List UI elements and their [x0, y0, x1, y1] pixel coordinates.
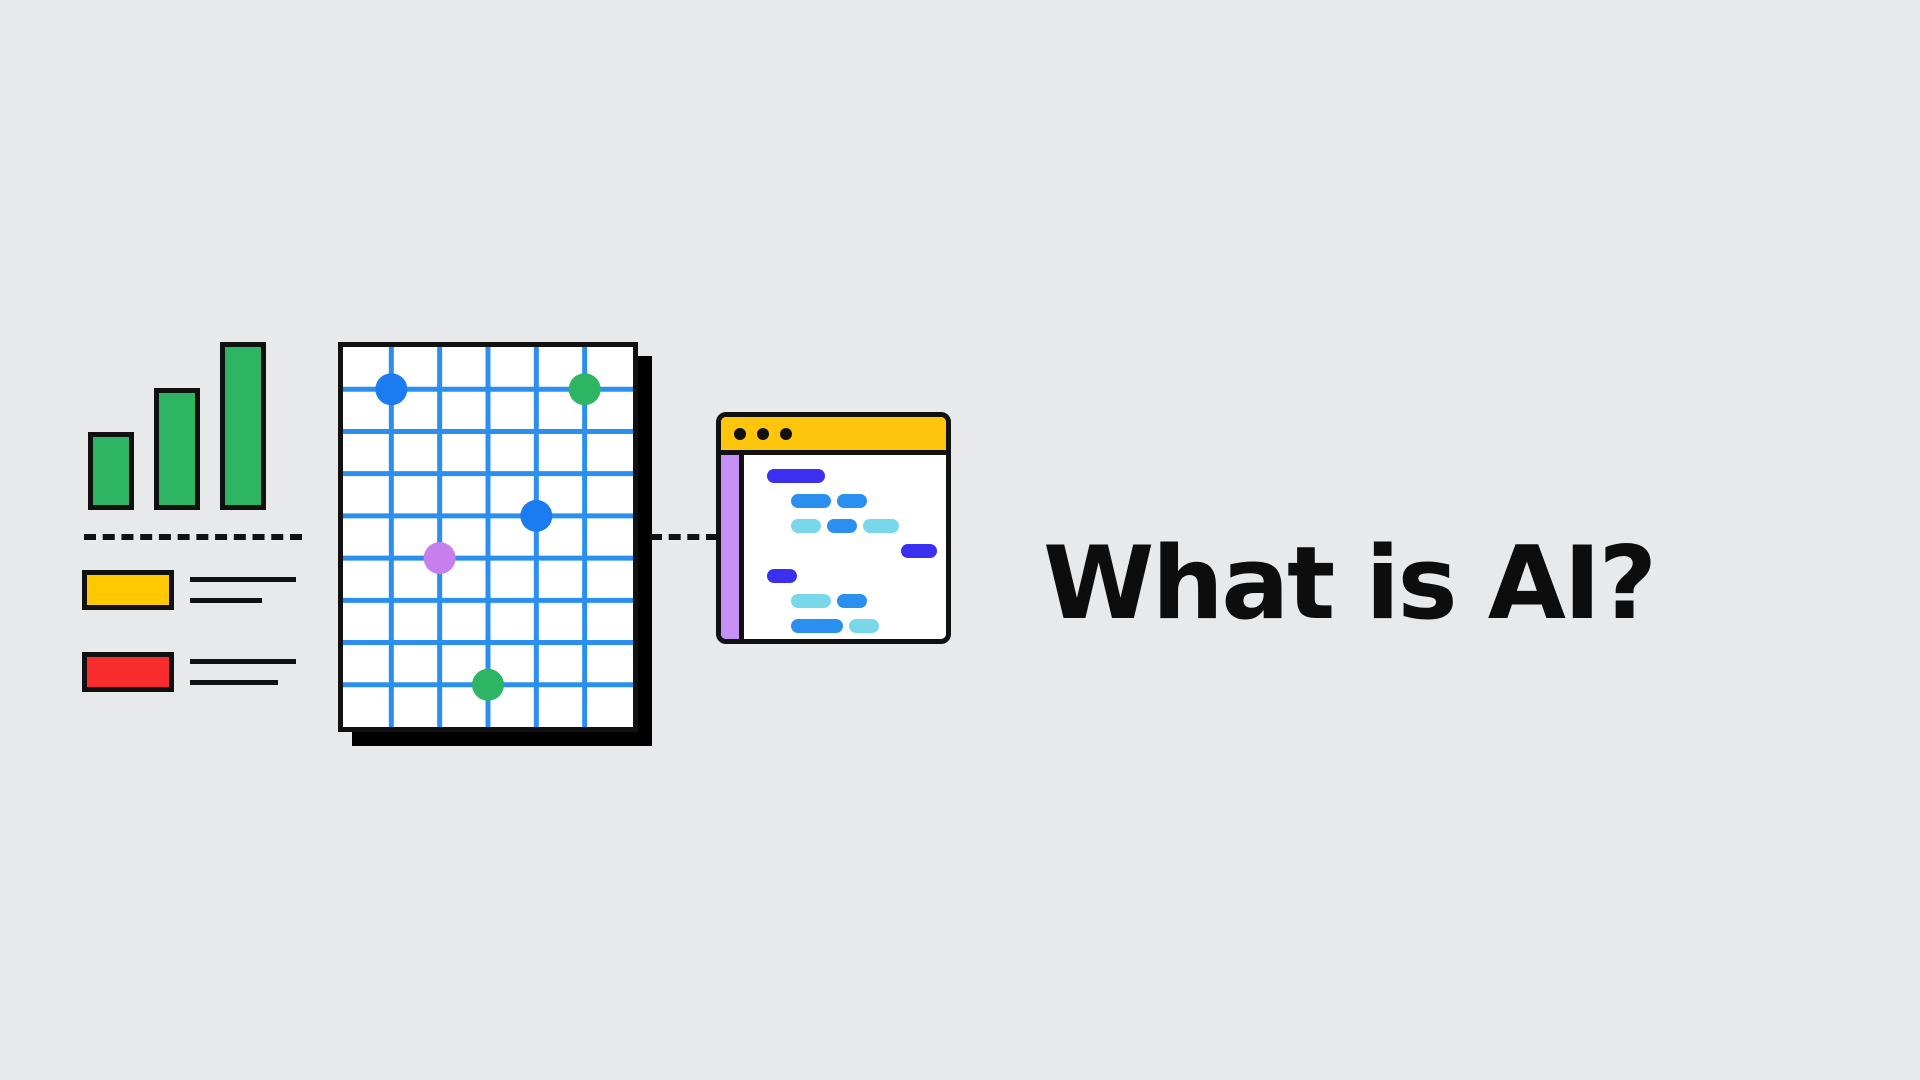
connector-grid-to-code	[650, 534, 718, 540]
code-line-indigo	[901, 544, 937, 558]
code-line-cyan	[791, 594, 831, 608]
legend-row-red	[82, 652, 302, 696]
code-window-titlebar	[721, 417, 946, 455]
scatter-point-blue	[375, 373, 407, 405]
code-line-blue	[791, 494, 831, 508]
legend-text-line-short	[190, 680, 278, 685]
code-line-cyan	[863, 519, 899, 533]
legend-text-line-short	[190, 598, 262, 603]
code-window-sidebar	[721, 455, 744, 639]
code-line-blue	[827, 519, 857, 533]
page-title: What is AI?	[1043, 533, 1655, 634]
legend-swatch-yellow	[82, 570, 174, 610]
scatter-point-purple	[424, 542, 456, 574]
code-window-frame	[716, 412, 951, 644]
bar-3	[220, 342, 266, 510]
code-line-blue	[791, 619, 843, 633]
scatter-point-blue	[520, 500, 552, 532]
window-dot-minimize-icon[interactable]	[757, 428, 769, 440]
legend-swatch-red	[82, 652, 174, 692]
scatter-plot-svg	[343, 347, 633, 727]
illustration-canvas: What is AI?	[0, 0, 1920, 1080]
scatter-plot-card	[338, 342, 638, 732]
bar-2	[154, 388, 200, 510]
window-dot-close-icon[interactable]	[734, 428, 746, 440]
legend-text-line-long	[190, 577, 296, 582]
code-line-indigo	[767, 469, 825, 483]
bar-1	[88, 432, 134, 510]
code-line-blue	[837, 494, 867, 508]
window-dot-maximize-icon[interactable]	[780, 428, 792, 440]
scatter-point-green	[472, 669, 504, 701]
code-line-blue	[837, 594, 867, 608]
code-window-body	[749, 455, 946, 639]
code-line-indigo	[767, 569, 797, 583]
bar-chart-illustration	[70, 330, 300, 690]
code-line-cyan	[791, 519, 821, 533]
legend-row-yellow	[82, 570, 302, 614]
code-line-cyan	[849, 619, 879, 633]
scatter-plot-surface	[338, 342, 638, 732]
dashed-baseline-rule	[84, 534, 302, 540]
scatter-point-green	[569, 373, 601, 405]
legend-text-line-long	[190, 659, 296, 664]
code-editor-window	[716, 412, 951, 644]
